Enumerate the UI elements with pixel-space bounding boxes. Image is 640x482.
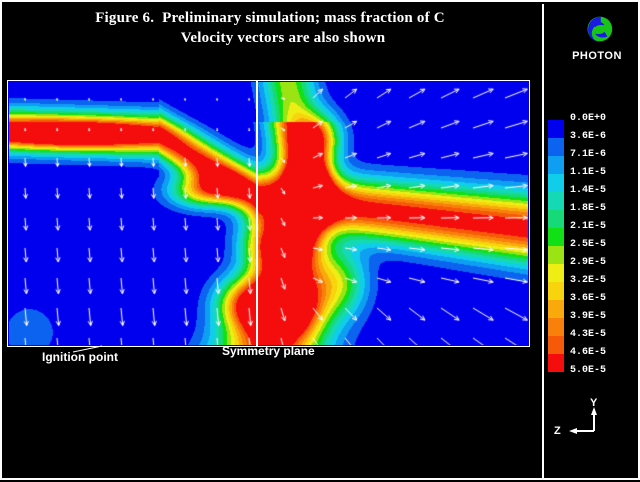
colorbar-tick-7: 2.5E-5 <box>570 240 606 250</box>
velocity-vector-overlay <box>9 82 528 345</box>
colorbar-tick-9: 3.2E-5 <box>570 276 606 286</box>
axis-label-y: Y <box>590 397 597 409</box>
colorbar-band-4 <box>548 192 564 210</box>
colorbar-band-13 <box>548 354 564 372</box>
colorbar-band-5 <box>548 210 564 228</box>
colorbar-band-12 <box>548 336 564 354</box>
colorbar-band-8 <box>548 264 564 282</box>
colorbar-tick-10: 3.6E-5 <box>570 294 606 304</box>
ignition-point-label: Ignition point <box>42 350 118 364</box>
figure-title-line-1: Figure 6. Preliminary simulation; mass f… <box>2 8 538 28</box>
axis-label-z: Z <box>554 425 561 437</box>
contour-plot-frame <box>7 80 530 347</box>
colorbar-tick-labels: 0.0E+03.6E-67.1E-61.1E-51.4E-51.8E-52.1E… <box>570 114 640 374</box>
colorbar-swatches <box>548 120 564 372</box>
colorbar-legend: 0.0E+03.6E-67.1E-61.1E-51.4E-51.8E-52.1E… <box>548 114 640 380</box>
colorbar-tick-12: 4.3E-5 <box>570 330 606 340</box>
photon-logo-icon <box>578 10 616 48</box>
colorbar-band-0 <box>548 120 564 138</box>
colorbar-tick-0: 0.0E+0 <box>570 114 606 124</box>
symmetry-plane-line <box>256 81 258 346</box>
colorbar-band-2 <box>548 156 564 174</box>
colorbar-band-3 <box>548 174 564 192</box>
figure-window: Figure 6. Preliminary simulation; mass f… <box>0 0 640 480</box>
figure-title-line-2: Velocity vectors are also shown <box>2 28 538 48</box>
axis-triad: Y Z <box>554 397 634 453</box>
colorbar-band-11 <box>548 318 564 336</box>
colorbar-tick-13: 4.6E-5 <box>570 348 606 358</box>
colorbar-band-7 <box>548 246 564 264</box>
colorbar-band-9 <box>548 282 564 300</box>
colorbar-tick-8: 2.9E-5 <box>570 258 606 268</box>
colorbar-tick-14: 5.0E-5 <box>570 366 606 376</box>
symmetry-plane-label: Symmetry plane <box>222 344 315 358</box>
colorbar-tick-2: 7.1E-6 <box>570 150 606 160</box>
colorbar-tick-3: 1.1E-5 <box>570 168 606 178</box>
colorbar-band-1 <box>548 138 564 156</box>
side-panel: PHOTON 0.0E+03.6E-67.1E-61.1E-51.4E-51.8… <box>544 2 640 478</box>
colorbar-tick-6: 2.1E-5 <box>570 222 606 232</box>
colorbar-tick-5: 1.8E-5 <box>570 204 606 214</box>
colorbar-band-10 <box>548 300 564 318</box>
contour-plot-area <box>9 82 528 345</box>
colorbar-tick-11: 3.9E-5 <box>570 312 606 322</box>
colorbar-tick-1: 3.6E-6 <box>570 132 606 142</box>
photon-logo-text: PHOTON <box>544 50 640 62</box>
colorbar-band-6 <box>548 228 564 246</box>
figure-title-block: Figure 6. Preliminary simulation; mass f… <box>2 8 538 70</box>
colorbar-tick-4: 1.4E-5 <box>570 186 606 196</box>
